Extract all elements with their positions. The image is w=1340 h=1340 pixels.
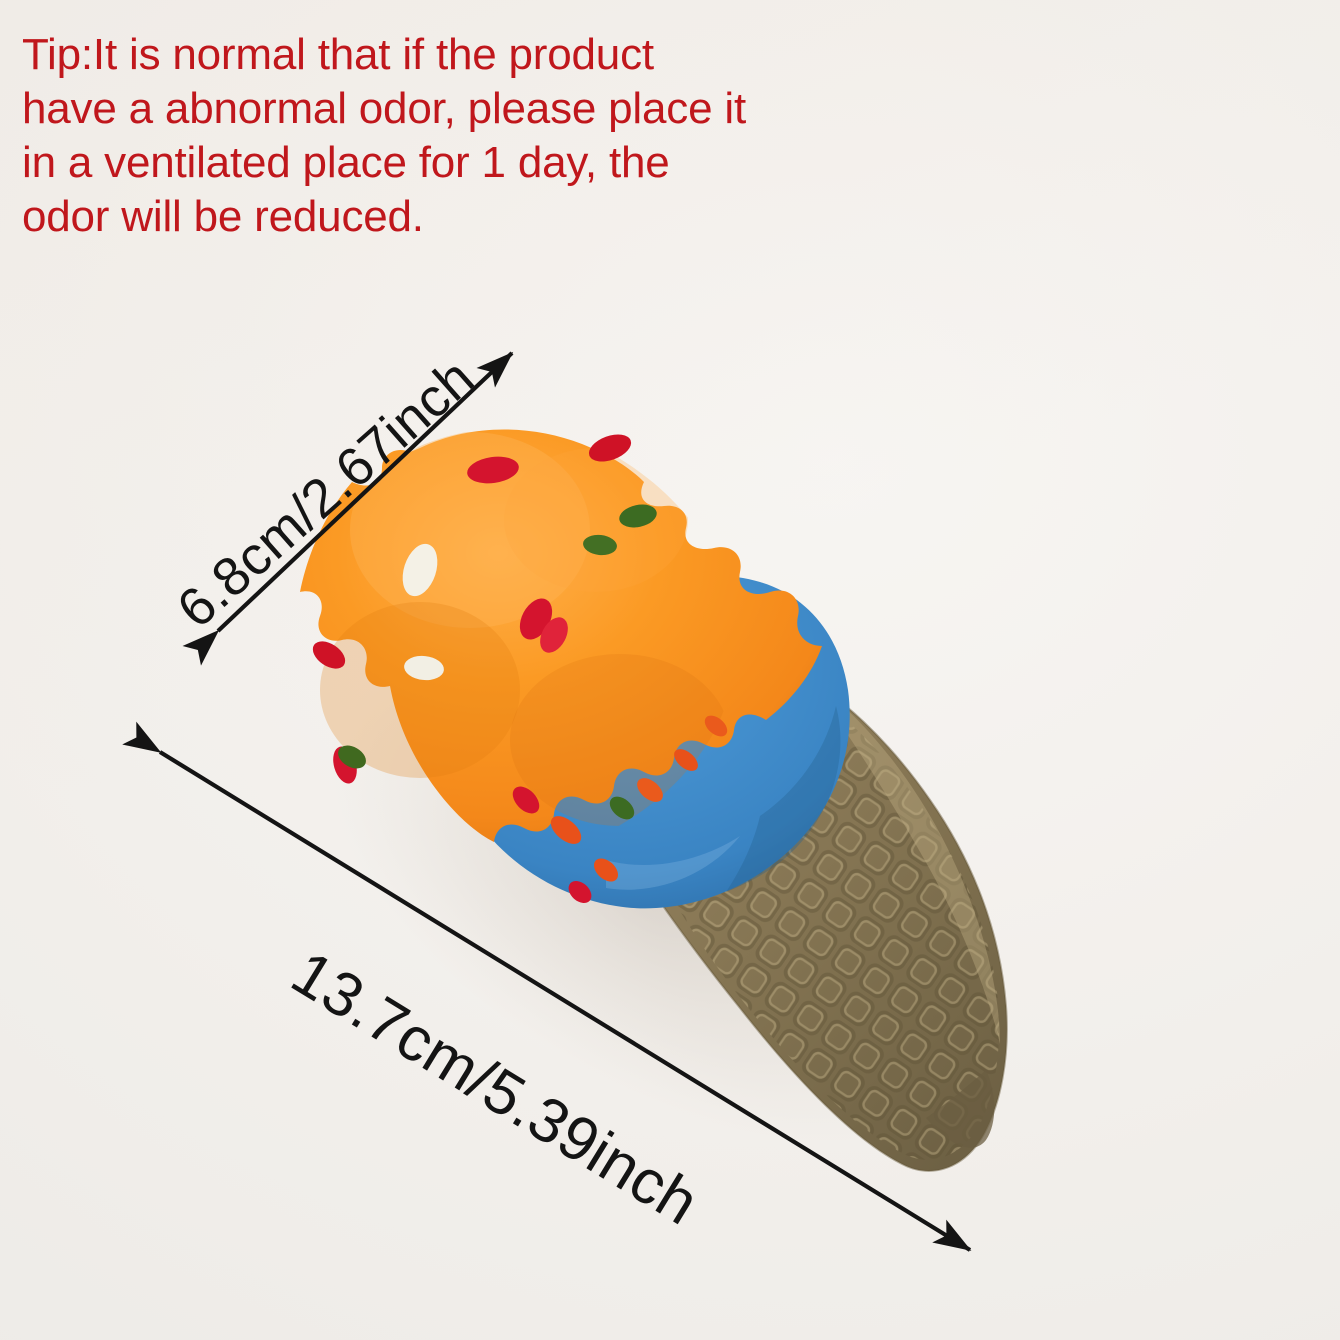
dimension-line-length bbox=[160, 752, 970, 1250]
dimension-annotations bbox=[0, 0, 1340, 1340]
product-image-canvas: Tip:It is normal that if the product hav… bbox=[0, 0, 1340, 1340]
